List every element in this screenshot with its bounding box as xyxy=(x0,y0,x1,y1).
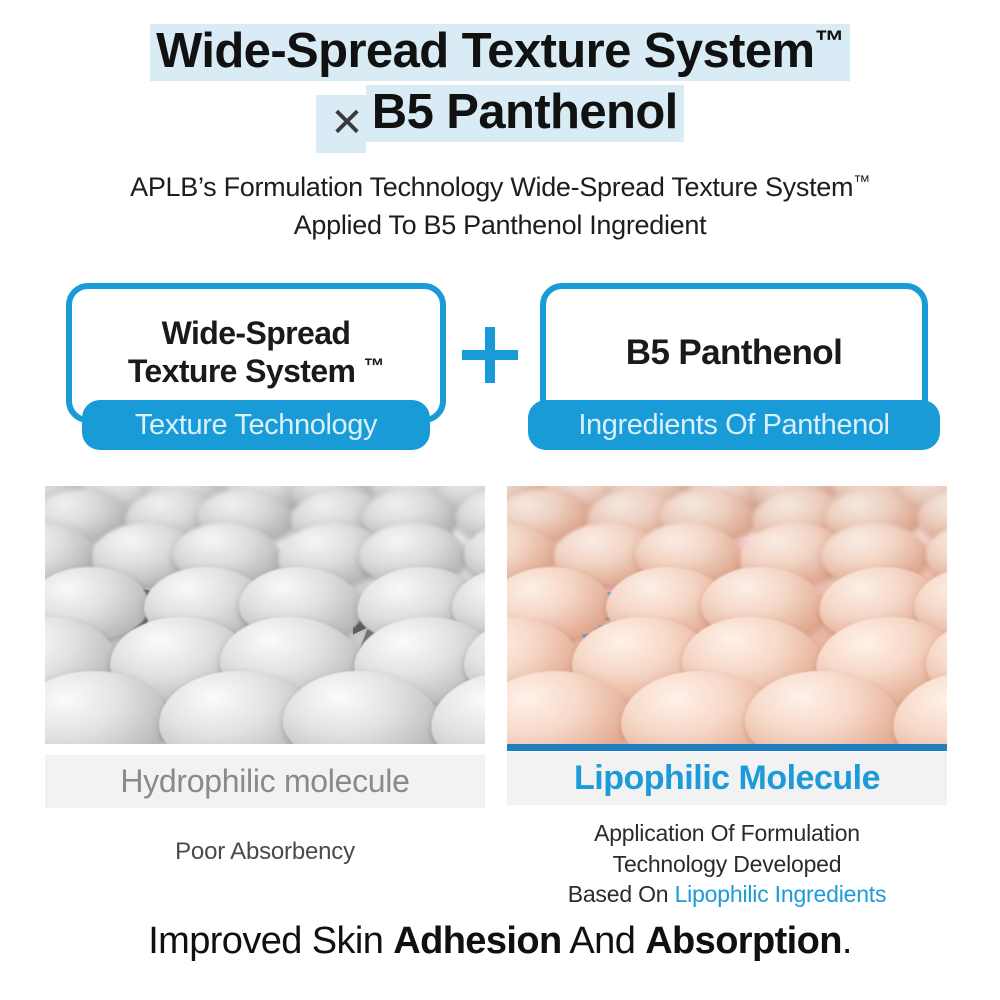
trademark-icon: ™ xyxy=(814,25,843,58)
pill-ingredients-label: Ingredients Of Panthenol xyxy=(578,409,889,442)
lipophilic-accent-bar xyxy=(507,744,947,751)
skin-surface-pink xyxy=(507,486,947,744)
footer-bold-adhesion: Adhesion xyxy=(393,920,561,962)
sub-caption-lipophilic: Application Of Formulation Technology De… xyxy=(507,818,947,910)
subtitle-line-1-text: APLB’s Formulation Technology Wide-Sprea… xyxy=(130,172,853,202)
illustration-lipophilic xyxy=(507,486,947,744)
page-title: Wide-Spread Texture System™ ✕B5 Pantheno… xyxy=(0,24,1000,153)
sub-caption-line-3: Based On Lipophilic Ingredients xyxy=(507,879,947,910)
sub-caption-line-3-pre: Based On xyxy=(568,881,675,907)
pill-texture-technology-label: Texture Technology xyxy=(135,409,377,442)
title-line-2-text: B5 Panthenol xyxy=(366,85,684,142)
footer-pre: Improved Skin xyxy=(148,920,393,962)
card-b5-panthenol-title: B5 Panthenol xyxy=(626,332,842,373)
formula-row: Wide-Spread Texture System ™ Texture Tec… xyxy=(0,283,1000,463)
title-line-1-highlight: Wide-Spread Texture System™ xyxy=(150,24,850,81)
sub-caption-line-1: Application Of Formulation xyxy=(507,818,947,849)
plus-icon-vertical-bar xyxy=(485,327,495,383)
footer-mid: And xyxy=(562,920,646,962)
caption-lipophilic: Lipophilic Molecule xyxy=(507,752,947,805)
title-line-1: Wide-Spread Texture System™ xyxy=(0,24,1000,81)
caption-hydrophilic: Hydrophilic molecule xyxy=(45,755,485,808)
trademark-icon: ™ xyxy=(853,172,870,191)
skin-cell-field-gray xyxy=(45,486,485,744)
sub-caption-poor-absorbency: Poor Absorbency xyxy=(45,838,485,866)
illustration-hydrophilic xyxy=(45,486,485,744)
sub-caption-line-3-highlight: Lipophilic Ingredients xyxy=(675,881,887,907)
skin-cell-field-pink xyxy=(507,486,947,744)
title-line-2: ✕B5 Panthenol xyxy=(0,85,1000,153)
footer-bold-absorption: Absorption xyxy=(645,920,842,962)
pill-ingredients-of-panthenol: Ingredients Of Panthenol xyxy=(528,400,940,450)
card-left-title-line-2: Texture System xyxy=(128,353,364,389)
plus-icon xyxy=(462,327,518,383)
caption-lipophilic-text: Lipophilic Molecule xyxy=(574,759,880,798)
infographic-page: Wide-Spread Texture System™ ✕B5 Pantheno… xyxy=(0,0,1000,1000)
subtitle-line-1: APLB’s Formulation Technology Wide-Sprea… xyxy=(0,168,1000,206)
card-left-title-line-1: Wide-Spread xyxy=(162,315,351,351)
sub-caption-line-2: Technology Developed xyxy=(507,849,947,880)
caption-hydrophilic-text: Hydrophilic molecule xyxy=(120,763,409,800)
pill-texture-technology: Texture Technology xyxy=(82,400,430,450)
footer-statement: Improved Skin Adhesion And Absorption. xyxy=(0,920,1000,963)
skin-surface-gray xyxy=(45,486,485,744)
subtitle: APLB’s Formulation Technology Wide-Sprea… xyxy=(0,168,1000,245)
subtitle-line-2: Applied To B5 Panthenol Ingredient xyxy=(0,206,1000,244)
footer-post: . xyxy=(842,920,852,962)
trademark-icon: ™ xyxy=(364,355,384,378)
cross-icon: ✕ xyxy=(316,95,366,153)
card-texture-system-title: Wide-Spread Texture System ™ xyxy=(128,315,384,391)
title-line-1-text: Wide-Spread Texture System xyxy=(156,24,814,78)
